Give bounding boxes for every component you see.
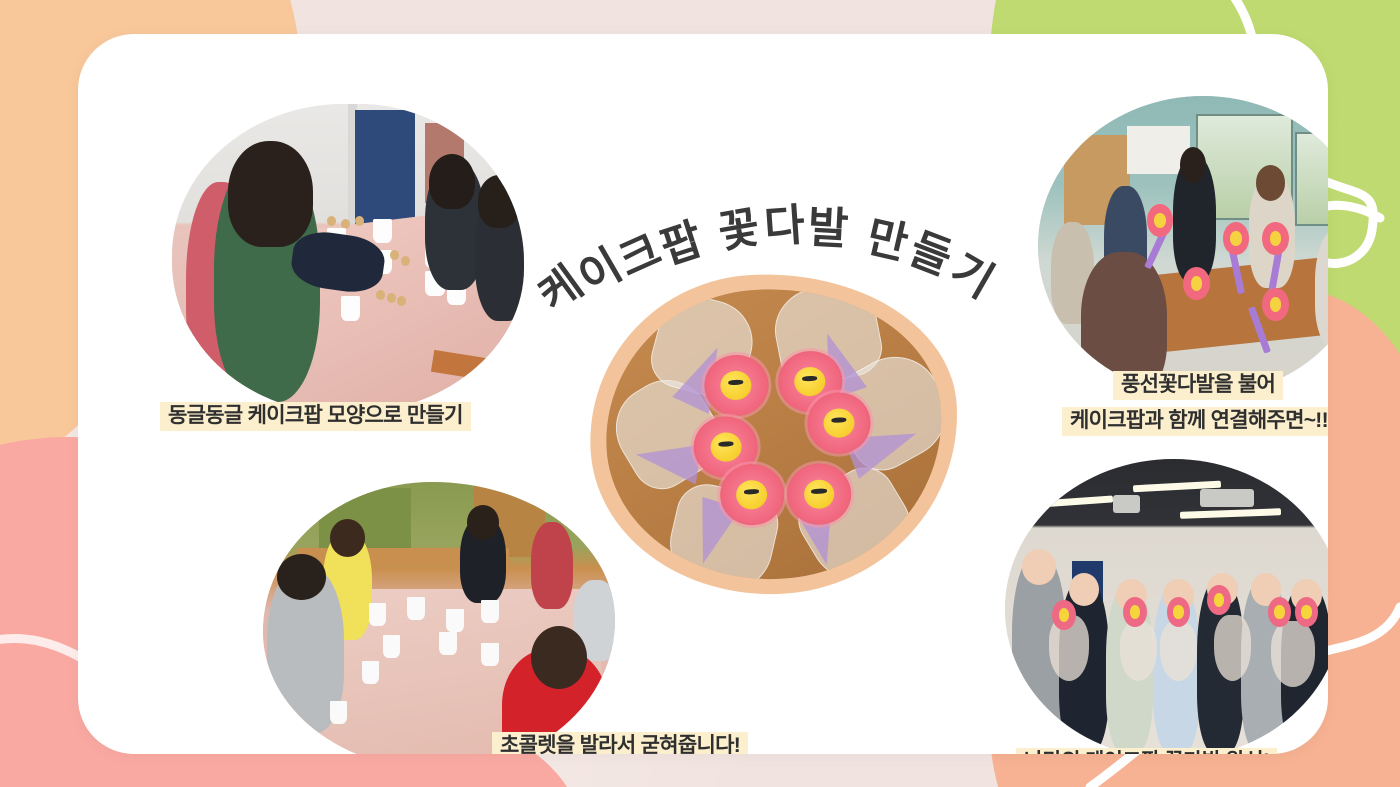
photo-finished-bouquets (599, 280, 950, 587)
caption-chocolate-coating: 초콜렛을 발라서 굳혀줍니다! (492, 731, 748, 754)
photo-chocolate-coating-scene (263, 482, 615, 754)
title-char: 케 (523, 249, 593, 324)
title-char: 다 (762, 189, 806, 256)
photo-rolling-cakepops (172, 104, 524, 414)
caption-text: 풍선꽃다발을 불어 (1113, 371, 1283, 400)
title-char: 크 (607, 215, 669, 290)
photo-finished-bouquets-ring (582, 265, 966, 604)
caption-text: 동글동글 케이크팝 모양으로 만들기 (160, 402, 471, 431)
poster-card: 케 이 크 팝 꽃 다 발 만 들 기 동글동글 케이크팝 모양으로 만들기 풍… (78, 34, 1328, 754)
photo-finished-bouquets-scene (599, 280, 950, 587)
caption-group-with-bouquets: 나만의 케이크팝 꽃다발 완성! (1016, 747, 1277, 754)
photo-blowing-balloons (1038, 96, 1328, 396)
title-char: 팝 (651, 203, 708, 276)
photo-chocolate-coating (263, 482, 615, 754)
title-char: 들 (902, 213, 962, 287)
title-char: 만 (861, 200, 914, 271)
title-char: 발 (806, 191, 849, 257)
photo-rolling-cakepops-scene (172, 104, 524, 414)
poster-canvas: 케 이 크 팝 꽃 다 발 만 들 기 동글동글 케이크팝 모양으로 만들기 풍… (0, 0, 1400, 787)
caption-blowing-balloons-line2: 케이크팝과 함께 연결해주면~!! (1062, 406, 1328, 436)
caption-text: 케이크팝과 함께 연결해주면~!! (1062, 407, 1328, 436)
photo-blowing-balloons-scene (1038, 96, 1328, 396)
photo-group-with-bouquets-scene (1005, 459, 1328, 754)
caption-text: 나만의 케이크팝 꽃다발 완성! (1016, 748, 1277, 754)
title-char: 기 (941, 234, 1007, 309)
caption-text: 초콜렛을 발라서 굳혀줍니다! (492, 732, 748, 754)
caption-blowing-balloons-line1: 풍선꽃다발을 불어 (1113, 370, 1283, 400)
title-char: 이 (565, 230, 631, 305)
caption-rolling-cakepops: 동글동글 케이크팝 모양으로 만들기 (160, 401, 471, 431)
photo-group-with-bouquets (1005, 459, 1328, 754)
title-char: 꽃 (713, 191, 763, 261)
